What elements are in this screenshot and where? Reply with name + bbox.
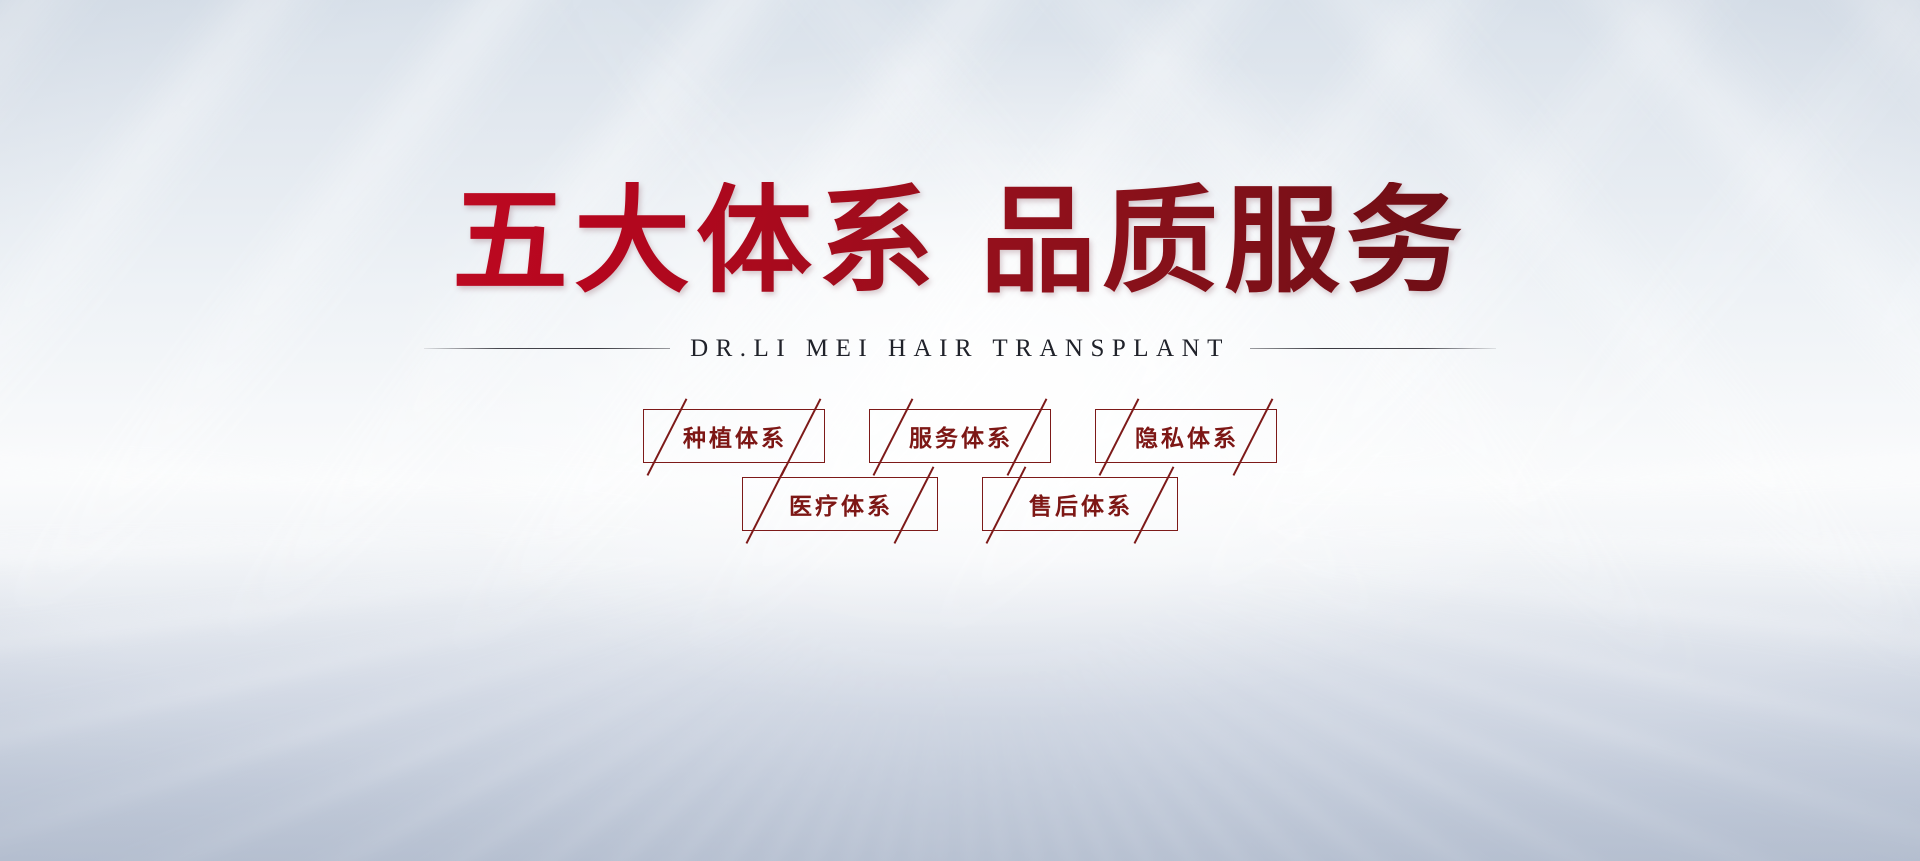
page-title-part-two: 品质服务 <box>980 179 1468 307</box>
system-tag-aftersales[interactable]: 售后体系 <box>982 477 1178 531</box>
subtitle-row: DR.LI MEI HAIR TRANSPLANT <box>424 335 1496 363</box>
system-tag-label: 服务体系 <box>909 419 1013 453</box>
system-tag-service[interactable]: 服务体系 <box>869 409 1051 463</box>
system-tag-label: 种植体系 <box>683 419 787 453</box>
slash-decoration-icon <box>746 466 786 543</box>
system-tag-label: 医疗体系 <box>789 487 893 521</box>
page-title: 五大体系品质服务 <box>452 182 1468 305</box>
system-tag-label: 隐私体系 <box>1135 419 1239 453</box>
system-tag-groups: 种植体系 服务体系 隐私体系 医疗体系 <box>643 409 1277 531</box>
hero-banner: 五大体系品质服务 DR.LI MEI HAIR TRANSPLANT 种植体系 … <box>0 0 1920 861</box>
page-subtitle: DR.LI MEI HAIR TRANSPLANT <box>690 335 1230 363</box>
system-tag-planting[interactable]: 种植体系 <box>643 409 825 463</box>
slash-decoration-icon <box>1007 398 1047 475</box>
system-tag-row-1: 种植体系 服务体系 隐私体系 <box>643 409 1277 463</box>
slash-decoration-icon <box>647 398 687 475</box>
system-tag-label: 售后体系 <box>1029 487 1133 521</box>
system-tag-medical[interactable]: 医疗体系 <box>742 477 938 531</box>
slash-decoration-icon <box>781 398 821 475</box>
banner-content: 五大体系品质服务 DR.LI MEI HAIR TRANSPLANT 种植体系 … <box>0 0 1920 861</box>
slash-decoration-icon <box>894 466 934 543</box>
slash-decoration-icon <box>1134 466 1174 543</box>
slash-decoration-icon <box>986 466 1026 543</box>
system-tag-row-2: 医疗体系 售后体系 <box>742 477 1178 531</box>
subtitle-rule-right <box>1250 348 1496 349</box>
slash-decoration-icon <box>873 398 913 475</box>
slash-decoration-icon <box>1099 398 1139 475</box>
subtitle-rule-left <box>424 348 670 349</box>
system-tag-privacy[interactable]: 隐私体系 <box>1095 409 1277 463</box>
page-title-part-one: 五大体系 <box>452 179 940 307</box>
slash-decoration-icon <box>1233 398 1273 475</box>
